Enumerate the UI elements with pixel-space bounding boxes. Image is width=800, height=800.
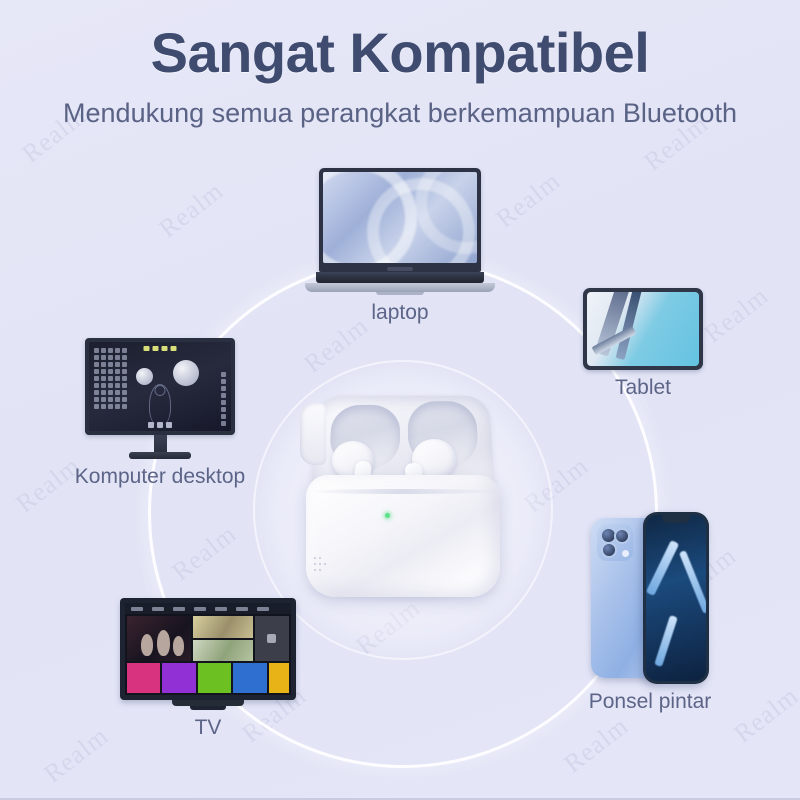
laptop-base [305, 283, 495, 292]
tablet-screen [587, 292, 699, 366]
watermark-text: Realm [153, 176, 229, 245]
desktop-hud-dots [144, 346, 177, 351]
tv-foot [190, 706, 226, 710]
desktop-monitor [85, 338, 235, 435]
device-node-tv: TV [108, 598, 308, 740]
laptop-wallpaper [323, 172, 477, 263]
device-label-desktop: Komputer desktop [62, 465, 258, 489]
earbuds-case-seam [308, 489, 498, 494]
device-label-phone: Ponsel pintar [560, 690, 740, 714]
infographic-canvas: RealmRealmRealmRealmRealmRealmRealmRealm… [0, 0, 800, 800]
tv-hero-tile [127, 616, 191, 661]
watermark-text: Realm [558, 711, 634, 780]
page-title: Sangat Kompatibel [0, 20, 800, 85]
phone-wallpaper [646, 515, 706, 681]
device-label-laptop: laptop [300, 301, 500, 325]
laptop-screen [319, 168, 481, 272]
tv-content-grid [125, 614, 291, 663]
device-node-laptop: laptop [300, 168, 500, 325]
laptop-foot [376, 292, 424, 295]
device-node-tablet: Tablet [578, 288, 708, 400]
tv-nav-bar [125, 603, 291, 614]
desktop-screen [89, 342, 231, 431]
product-earbuds [288, 385, 518, 610]
smartphone-icon [591, 512, 709, 684]
tablet-body [583, 288, 703, 370]
watermark-text: Realm [698, 281, 774, 350]
device-node-desktop: Komputer desktop [62, 338, 258, 489]
device-label-tablet: Tablet [578, 376, 708, 400]
tablet-icon [578, 288, 708, 370]
laptop-icon [300, 168, 500, 295]
tv-body [120, 598, 296, 700]
desktop-planet-small [136, 368, 153, 385]
tv-side-panel [255, 616, 289, 661]
device-label-tv: TV [108, 716, 308, 740]
phone-front-display [643, 512, 709, 684]
desktop-stand-neck [154, 435, 167, 452]
watermark-text: Realm [38, 721, 114, 790]
tv-screen [125, 603, 291, 695]
tv-tile-column [193, 616, 253, 661]
watermark-text: Realm [490, 166, 566, 235]
tv-app-row [125, 663, 291, 695]
tv-app-tile [233, 663, 266, 693]
desktop-monitor-icon [62, 338, 258, 459]
television-icon [108, 598, 308, 710]
tv-app-tile [162, 663, 195, 693]
tv-tile-lower [193, 640, 253, 662]
desktop-character [149, 384, 171, 425]
desktop-stand-base [129, 452, 191, 459]
desktop-planet-large [173, 360, 199, 386]
tv-tile-upper [193, 616, 253, 638]
tv-app-tile [198, 663, 231, 693]
phone-camera-module [597, 524, 633, 561]
earbuds-case-hinge [300, 403, 326, 465]
desktop-hotbar [148, 422, 172, 428]
laptop-keyboard [316, 272, 484, 283]
laptop-bezel-notch [387, 267, 413, 271]
charging-led-indicator [385, 513, 390, 518]
tv-app-tile [269, 663, 289, 693]
tv-app-tile [127, 663, 160, 693]
page-subtitle: Mendukung semua perangkat berkemampuan B… [0, 98, 800, 129]
earbuds-case-texture [314, 557, 326, 571]
device-node-phone: Ponsel pintar [560, 512, 740, 714]
